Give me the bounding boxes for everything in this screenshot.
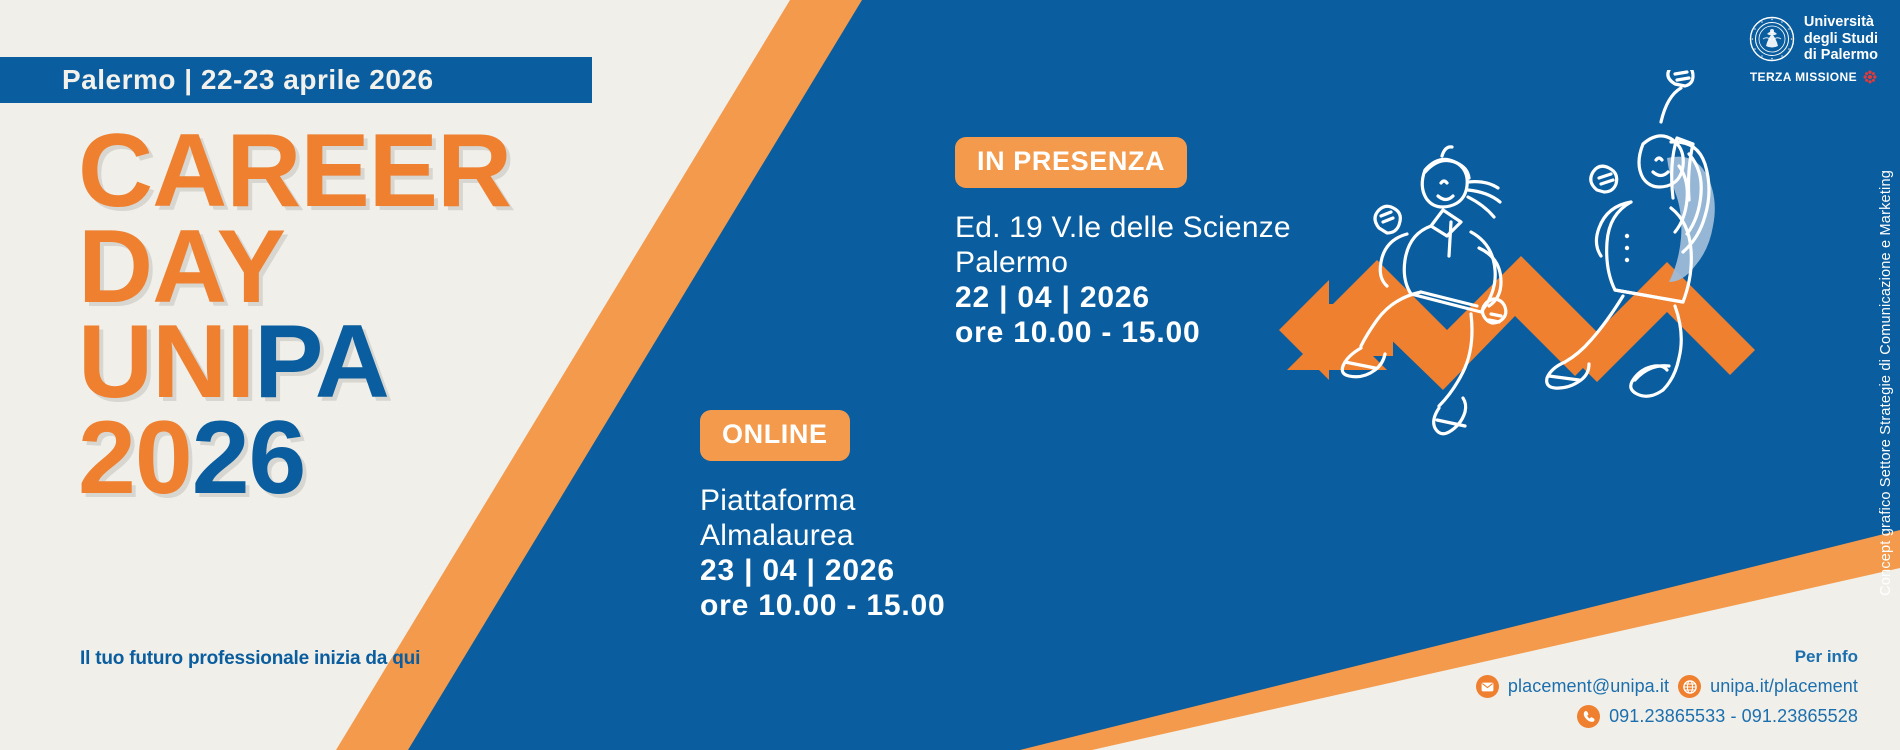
- badge-in-presenza: IN PRESENZA: [955, 137, 1187, 188]
- per-info-label: Per info: [1476, 647, 1858, 667]
- logo-line-1: Università: [1804, 14, 1878, 31]
- university-logo: Università degli Studi di Palermo TERZA …: [1749, 14, 1878, 84]
- university-seal-icon: [1749, 16, 1795, 62]
- terza-missione-label: TERZA MISSIONE: [1750, 70, 1857, 84]
- contact-email-label: placement@unipa.it: [1508, 676, 1669, 697]
- contact-phone[interactable]: 091.23865533 - 091.23865528: [1577, 705, 1858, 728]
- session-line-time: ore 10.00 - 15.00: [700, 588, 945, 623]
- session-line-platform: Piattaforma: [700, 483, 945, 518]
- phone-icon: [1577, 705, 1600, 728]
- title-line-unipa: UNIPA: [78, 317, 598, 409]
- title-line-career: CAREER: [78, 126, 598, 218]
- terza-missione-row: TERZA MISSIONE: [1750, 70, 1877, 84]
- session-line-time: ore 10.00 - 15.00: [955, 315, 1291, 350]
- globe-icon: [1678, 675, 1701, 698]
- session-line-platform-name: Almalaurea: [700, 518, 945, 553]
- title-seg-20: 20: [78, 400, 192, 516]
- contact-row-phone: 091.23865533 - 091.23865528: [1476, 705, 1858, 728]
- logo-line-3: di Palermo: [1804, 47, 1878, 64]
- credit-vertical-text: Concept grafico Settore Strategie di Com…: [1878, 170, 1894, 596]
- title-line-day: DAY: [78, 222, 598, 314]
- session-line-date: 22 | 04 | 2026: [955, 280, 1291, 315]
- career-day-poster: Palermo | 22-23 aprile 2026 CAREER DAY U…: [0, 0, 1900, 750]
- logo-text: Università degli Studi di Palermo: [1804, 14, 1878, 64]
- contact-website-label: unipa.it/placement: [1710, 676, 1858, 697]
- terza-missione-mark-icon: [1863, 70, 1877, 84]
- session-details-online: Piattaforma Almalaurea 23 | 04 | 2026 or…: [700, 483, 945, 623]
- contact-phone-label: 091.23865533 - 091.23865528: [1609, 706, 1858, 727]
- session-online: ONLINE Piattaforma Almalaurea 23 | 04 | …: [700, 410, 945, 623]
- session-details-in-presenza: Ed. 19 V.le delle Scienze Palermo 22 | 0…: [955, 210, 1291, 350]
- title-line-year: 2026: [78, 413, 598, 505]
- logo-line-2: degli Studi: [1804, 31, 1878, 48]
- contact-row-primary: placement@unipa.it unipa.it/placement: [1476, 675, 1858, 698]
- envelope-icon: [1476, 675, 1499, 698]
- session-line-venue: Ed. 19 V.le delle Scienze: [955, 210, 1291, 245]
- logo-row: Università degli Studi di Palermo: [1749, 14, 1878, 64]
- date-bar: Palermo | 22-23 aprile 2026: [0, 57, 592, 103]
- session-line-city: Palermo: [955, 245, 1291, 280]
- tagline: Il tuo futuro professionale inizia da qu…: [80, 648, 420, 670]
- page-title: CAREER DAY UNIPA 2026: [78, 126, 598, 504]
- illustration-runners-and-arrow: [1275, 70, 1835, 470]
- session-in-presenza: IN PRESENZA Ed. 19 V.le delle Scienze Pa…: [955, 137, 1291, 350]
- contact-info: Per info placement@unipa.it unipa.it/pla…: [1476, 647, 1858, 728]
- contact-website[interactable]: unipa.it/placement: [1678, 675, 1858, 698]
- badge-online: ONLINE: [700, 410, 850, 461]
- date-bar-text: Palermo | 22-23 aprile 2026: [0, 64, 434, 96]
- contact-email[interactable]: placement@unipa.it: [1476, 675, 1669, 698]
- session-line-date: 23 | 04 | 2026: [700, 553, 945, 588]
- title-seg-26: 26: [192, 400, 306, 516]
